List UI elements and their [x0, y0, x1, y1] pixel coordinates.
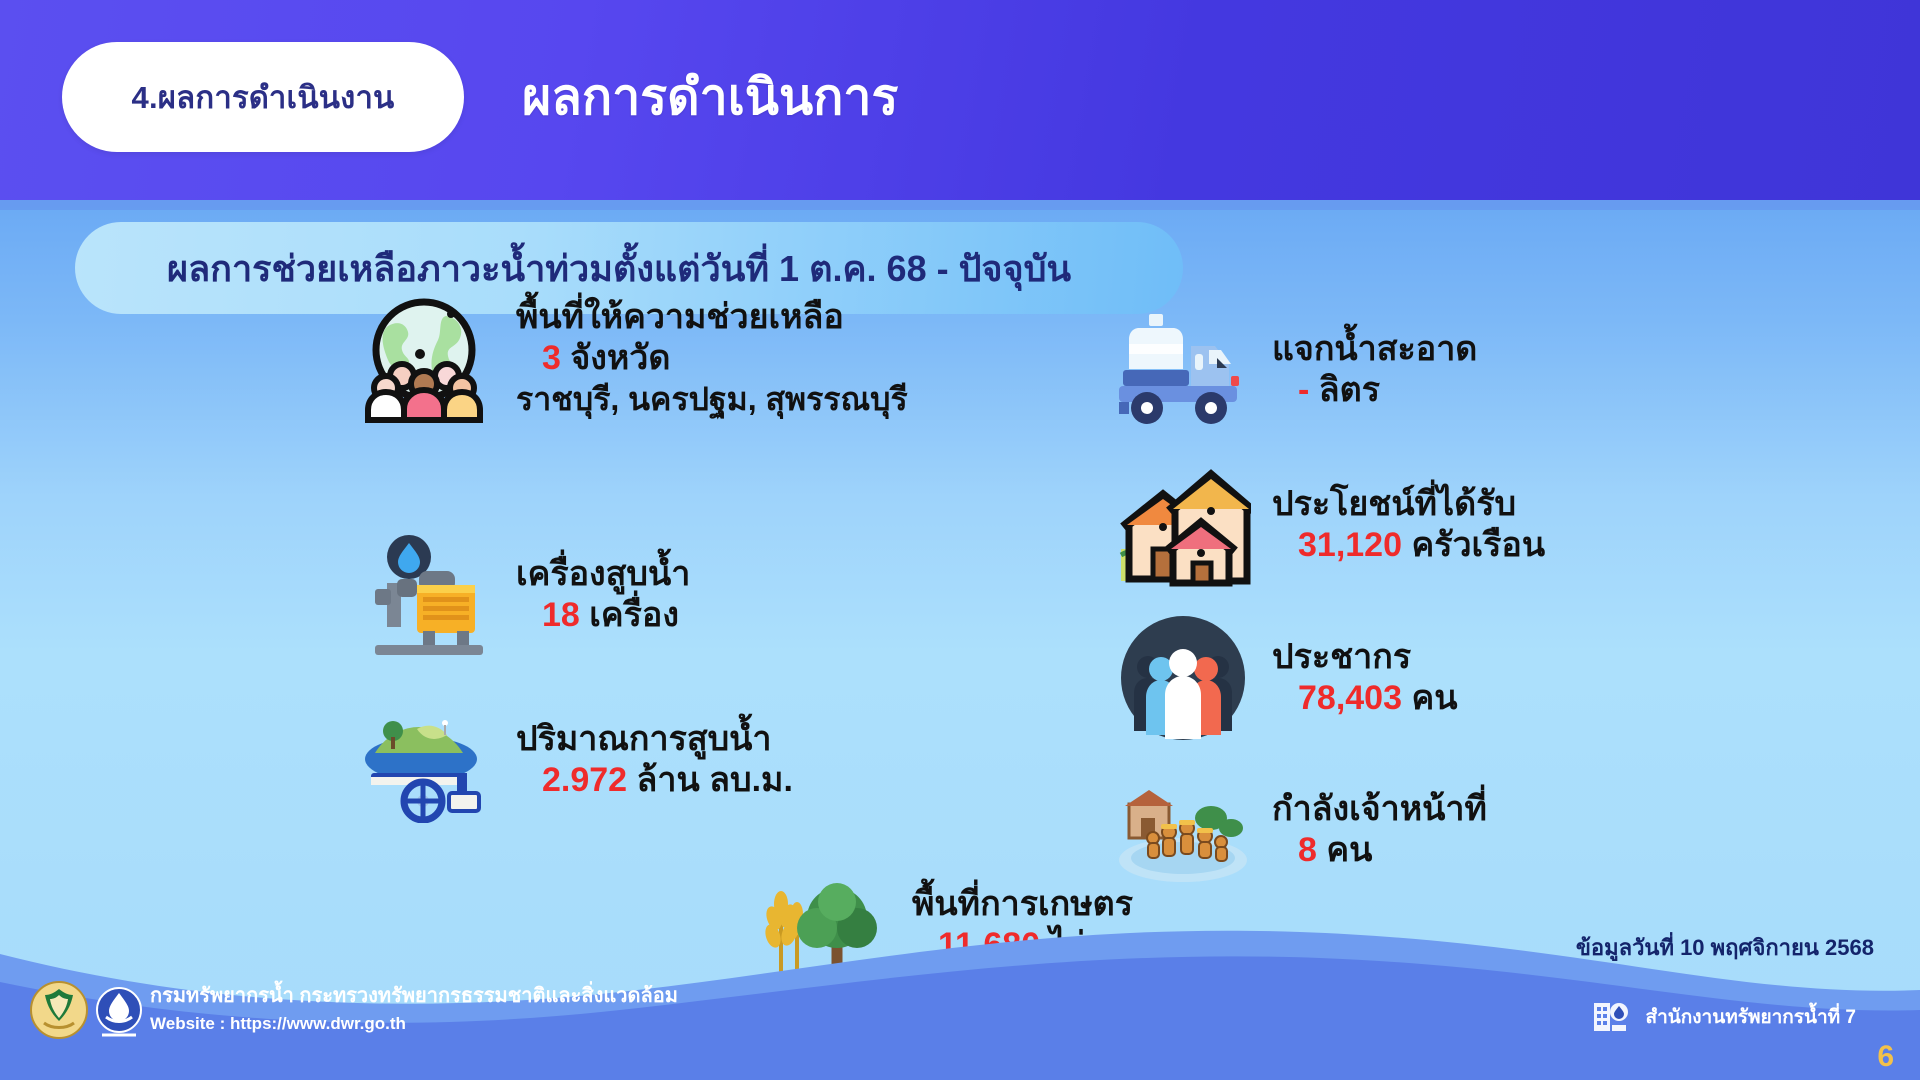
stat-staff: กำลังเจ้าหน้าที่ 8 คน — [1108, 760, 1487, 900]
stat-area-helped-detail: ราชบุรี, นครปฐม, สุพรรณบุรี — [516, 379, 908, 419]
stat-water-pumps-label: เครื่องสูบน้ำ — [516, 554, 690, 594]
stat-staff-unit: คน — [1326, 831, 1372, 869]
stat-water-pumps-unit: เครื่อง — [589, 596, 679, 634]
stat-staff-value-line: 8 คน — [1272, 829, 1487, 872]
stat-households-text: ประโยชน์ที่ได้รับ 31,120 ครัวเรือน — [1272, 484, 1545, 567]
stat-clean-water: แจกน้ำสะอาด - ลิตร — [1108, 300, 1477, 440]
houses-icon — [1108, 455, 1258, 595]
stat-area-helped-unit: จังหวัด — [570, 339, 670, 377]
stat-area-helped: พื้นที่ให้ความช่วยเหลือ 3 จังหวัด ราชบุร… — [352, 288, 908, 428]
stat-clean-water-unit: ลิตร — [1319, 371, 1380, 409]
stat-water-pumps-text: เครื่องสูบน้ำ 18 เครื่อง — [516, 554, 690, 637]
page-title: ผลการดำเนินการ — [522, 58, 898, 137]
officers-field-icon — [1108, 760, 1258, 900]
stat-pumping-volume-text: ปริมาณการสูบน้ำ 2.972 ล้าน ลบ.ม. — [516, 719, 793, 802]
garuda-emblem-logo — [30, 979, 88, 1046]
dwr-department-logo — [96, 983, 142, 1050]
stat-area-helped-value-line: 3 จังหวัด — [516, 337, 908, 380]
stat-pumping-volume-value: 2.972 — [542, 761, 627, 799]
pumping-volume-icon — [352, 690, 502, 830]
stat-clean-water-value: - — [1298, 371, 1309, 409]
stat-households-value-line: 31,120 ครัวเรือน — [1272, 524, 1545, 567]
slide-root: 4.ผลการดำเนินงาน ผลการดำเนินการ ผลการช่ว… — [0, 0, 1920, 1080]
stat-households-unit: ครัวเรือน — [1411, 526, 1545, 564]
footer-text-block: กรมทรัพยากรน้ำ กระทรวงทรัพยากรธรรมชาติแล… — [150, 981, 678, 1037]
stat-households-label: ประโยชน์ที่ได้รับ — [1272, 484, 1545, 524]
stat-pumping-volume-unit: ล้าน ลบ.ม. — [637, 761, 793, 799]
population-people-icon — [1108, 608, 1258, 748]
stat-staff-text: กำลังเจ้าหน้าที่ 8 คน — [1272, 789, 1487, 872]
stat-population-value-line: 78,403 คน — [1272, 677, 1457, 720]
footer-website[interactable]: Website : https://www.dwr.go.th — [150, 1011, 678, 1037]
stat-area-helped-value: 3 — [542, 339, 561, 377]
stat-water-pumps-value-line: 18 เครื่อง — [516, 594, 690, 637]
water-truck-icon — [1108, 300, 1258, 440]
stat-population-value: 78,403 — [1298, 679, 1402, 717]
stat-households: ประโยชน์ที่ได้รับ 31,120 ครัวเรือน — [1108, 455, 1545, 595]
stat-area-helped-text: พื้นที่ให้ความช่วยเหลือ 3 จังหวัด ราชบุร… — [516, 297, 908, 420]
stat-area-helped-label: พื้นที่ให้ความช่วยเหลือ — [516, 297, 908, 337]
office-building-icon — [1590, 995, 1630, 1040]
globe-people-icon — [352, 288, 502, 428]
header-band: 4.ผลการดำเนินงาน ผลการดำเนินการ — [0, 0, 1920, 200]
stat-pumping-volume: ปริมาณการสูบน้ำ 2.972 ล้าน ลบ.ม. — [352, 690, 793, 830]
section-chip-label: 4.ผลการดำเนินงาน — [132, 72, 395, 122]
stat-population-label: ประชากร — [1272, 637, 1457, 677]
stat-staff-label: กำลังเจ้าหน้าที่ — [1272, 789, 1487, 829]
stat-clean-water-text: แจกน้ำสะอาด - ลิตร — [1272, 329, 1477, 412]
page-number: 6 — [1877, 1040, 1894, 1074]
stat-pumping-volume-label: ปริมาณการสูบน้ำ — [516, 719, 793, 759]
stat-clean-water-label: แจกน้ำสะอาด — [1272, 329, 1477, 369]
water-pump-icon — [352, 525, 502, 665]
stat-population-text: ประชากร 78,403 คน — [1272, 637, 1457, 720]
stat-water-pumps-value: 18 — [542, 596, 580, 634]
stat-pumping-volume-value-line: 2.972 ล้าน ลบ.ม. — [516, 759, 793, 802]
footer-organization: กรมทรัพยากรน้ำ กระทรวงทรัพยากรธรรมชาติแล… — [150, 981, 678, 1011]
stat-staff-value: 8 — [1298, 831, 1317, 869]
stat-clean-water-value-line: - ลิตร — [1272, 369, 1477, 412]
stat-population: ประชากร 78,403 คน — [1108, 608, 1457, 748]
section-chip[interactable]: 4.ผลการดำเนินงาน — [62, 42, 464, 152]
office-label: สำนักงานทรัพยากรน้ำที่ 7 — [1646, 1002, 1856, 1032]
stat-households-value: 31,120 — [1298, 526, 1402, 564]
stat-water-pumps: เครื่องสูบน้ำ 18 เครื่อง — [352, 525, 690, 665]
stat-population-unit: คน — [1411, 679, 1457, 717]
